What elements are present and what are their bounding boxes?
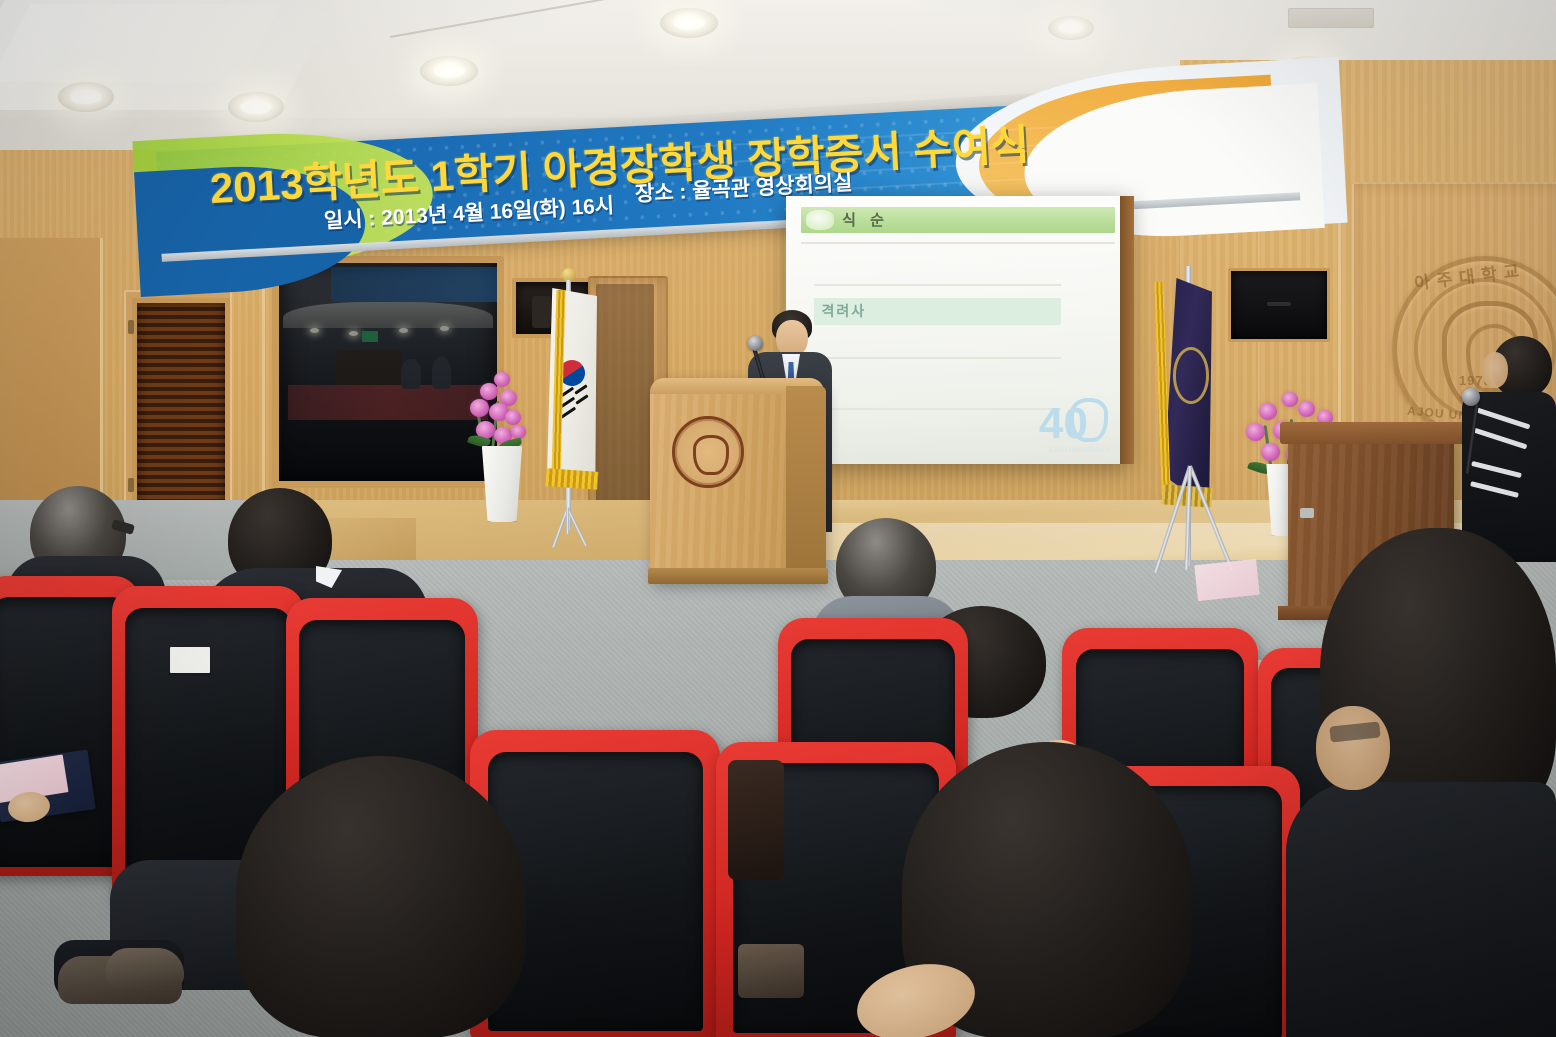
stage-door-inset (596, 284, 654, 526)
flag-stand-leg (566, 508, 569, 534)
bag (738, 944, 804, 998)
ceiling-downlight (228, 92, 284, 122)
audience-face (1316, 706, 1390, 790)
presenter-face (1482, 352, 1508, 388)
podium-ajou-crest (672, 416, 744, 488)
ceiling-downlight (420, 56, 478, 86)
microphone-icon (1462, 388, 1480, 406)
anniversary-flame-icon (1070, 398, 1108, 442)
niche-object (532, 296, 551, 328)
skylight-panel-inner (0, 4, 281, 82)
slide-highlight-item: 격려사 (814, 298, 1062, 325)
microphone-icon (748, 336, 763, 351)
podium-base (648, 568, 828, 584)
seat-number-label (170, 647, 210, 673)
louver-hinge (128, 478, 134, 492)
shoe (106, 948, 184, 988)
projection-screen: 식 순 격려사 40 AJOU UNIVERSITY (786, 196, 1130, 464)
slide-logo-icon (806, 210, 834, 229)
bag (728, 760, 784, 880)
ceiling-downlight (58, 82, 114, 112)
anniversary-caption: AJOU UNIVERSITY (1049, 448, 1110, 454)
flag-fringe-bottom (545, 468, 598, 490)
slide-header-bar: 식 순 (801, 207, 1114, 232)
program-paper[interactable] (1194, 559, 1259, 601)
ceiling-vent (1288, 8, 1374, 28)
ceiling-downlight (1048, 16, 1094, 40)
ceiling-downlight (660, 8, 718, 38)
louver-hinge (128, 320, 134, 334)
screen-right-frame (1120, 196, 1134, 464)
auditorium-photo: 아 주 대 학 교 AJOU UNIVERSITY 1973 2013학년도 1… (0, 0, 1556, 1037)
slide-header-title: 식 순 (842, 209, 889, 230)
audience-head-foreground (236, 756, 526, 1037)
podium-side-face (786, 386, 826, 584)
wall-speaker-icon (1228, 268, 1330, 342)
audience-body-foreground (1286, 782, 1556, 1037)
podium-control[interactable] (1300, 508, 1314, 518)
slide-highlight-label: 격려사 (814, 301, 867, 321)
